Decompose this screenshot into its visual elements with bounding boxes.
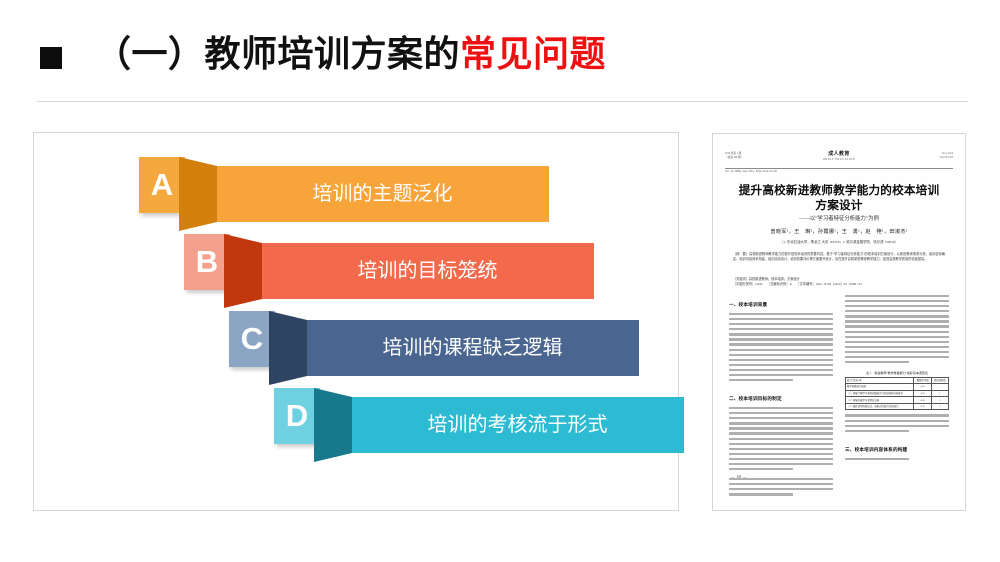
paper-table-cell: 教学准备能力维度 [846,384,914,391]
paper-text-line [729,333,833,335]
ribbon-bar-d: 培训的考核流于形式 [351,397,684,453]
paper-text-line [845,414,949,416]
ribbon-label-c: 培训的课程缺乏逻辑 [306,320,639,376]
paper-keywords: ［关键词］高校新进教师；校本培训；方案设计 ［中图分类号］G645 ［文献标识码… [733,277,945,288]
paper-table-row: （1）能够了解学习者的初始能力与知识结构分析能力4.301 [846,390,949,397]
paper-table-row: （3）确定适切的知识点、技能点的能力分析能力4.353 [846,403,949,410]
paper-abstract: ［摘 要］高校新进教师教学能力的提升是校本培训的重要内容，基于"学习者特征分析能… [733,252,945,261]
paper-text-line [729,323,833,325]
ribbon-item-c[interactable]: C培训的课程缺乏逻辑 [229,311,639,385]
paper-table-cell: 1 [931,390,948,397]
title-divider [36,101,968,102]
paper-title: 提升高校新进教师教学能力的校本培训方案设计 [733,183,945,213]
ribbon-label-d: 培训的考核流于形式 [351,397,684,453]
paper-section-heading-2: 二、校本培训目标的制定 [729,395,833,402]
paper-text-line [729,369,833,371]
ribbon-label-b: 培训的目标笼统 [261,243,594,299]
paper-block-gap [845,435,949,440]
ribbon-fold-d [314,388,352,462]
paper-text-line [845,305,949,307]
paper-subtitle: ——以"学习者特征分析能力"为例 [733,215,945,223]
paper-text-line [729,493,793,495]
paper-text-line [729,417,833,419]
paper-text-line [729,468,793,470]
paper-text-line [845,425,949,427]
paper-text-line [729,438,833,440]
paper-text-line [729,359,833,361]
paper-table-cell [931,384,948,391]
ribbon-item-a[interactable]: A培训的主题泛化 [139,157,549,231]
paper-text-line [729,463,833,465]
paper-text-line [845,458,909,460]
paper-text-line [845,356,949,358]
paper-column-left: 一、校本培训背景二、校本培训目标的制定 [729,295,833,498]
paper-page: 2014 年第 1 期 （总第 329 期） 成人教育 ADULT EDUCAT… [717,139,961,505]
page-title-accent: 常见问题 [460,33,606,74]
ribbon-fold-b [224,234,262,308]
paper-table-row: （2）能够开展学习者特征分析4.382 [846,397,949,404]
paper-text-line [729,349,833,351]
paper-table-cell: （2）能够开展学习者特征分析 [846,397,914,404]
paper-table-cell: （3）确定适切的知识点、技能点的能力分析能力 [846,403,914,410]
paper-table-cell: 4.41 [914,384,931,391]
paper-text-line [845,430,909,432]
paper-text-line [729,343,833,345]
paper-section-heading-1: 一、校本培训背景 [729,301,833,308]
square-bullet-icon [40,47,62,69]
paper-journal-en: ADULT EDUCATION [725,158,953,162]
paper-text-line [845,315,949,317]
paper-issue-right: No.1 2014 Total No.325 [939,152,953,161]
paper-issue-totalno: Total No.325 [939,156,953,159]
ribbon-bar-c: 培训的课程缺乏逻辑 [306,320,639,376]
paper-text-line [845,325,949,327]
paper-running-head: 2014 年第 1 期 （总第 329 期） 成人教育 ADULT EDUCAT… [725,152,953,168]
paper-text-line [729,318,833,320]
paper-text-line [729,328,833,330]
paper-table-cell: 4.35 [914,403,931,410]
paper-text-line [729,458,833,460]
paper-table-cell: 能 力 指 标 项 [846,377,914,384]
paper-text-line [729,412,833,414]
paper-text-line [845,420,949,422]
paper-table-caption: 表 1 新进教师"教学准备能力"指标基本调查表 [845,371,949,375]
paper-text-line [729,354,833,356]
paper-table-row: 教学准备能力维度4.41 [846,384,949,391]
slide-header: （一）教师培训方案的常见问题 [0,0,1000,102]
paper-text-line [845,351,949,353]
ribbon-item-b[interactable]: B培训的目标笼统 [184,234,594,308]
paper-text-line [845,320,949,322]
paper-text-line [729,483,833,485]
ribbon-list-card: A培训的主题泛化B培训的目标笼统C培训的课程缺乏逻辑D培训的考核流于形式 [33,132,679,511]
paper-text-line [845,361,909,363]
ribbon-label-a: 培训的主题泛化 [216,166,549,222]
paper-text-line [729,407,833,409]
paper-text-line [845,346,949,348]
paper-table-row: 能 力 指 标 项重要性均值需培训程度 [846,377,949,384]
paper-table-cell: 需培训程度 [931,377,948,384]
page-title: （一）教师培训方案的常见问题 [95,28,606,80]
paper-issue-no: No.1 2014 [942,152,953,155]
paper-text-line [845,341,949,343]
ribbon-fold-c [269,311,307,385]
paper-journal-name: 成人教育 ADULT EDUCATION [725,152,953,162]
paper-text-line [729,422,833,424]
paper-header-rule [725,168,953,169]
ribbon-bar-a: 培训的主题泛化 [216,166,549,222]
paper-text-line [845,310,949,312]
paper-text-line [729,443,833,445]
paper-text-line [845,300,949,302]
paper-text-line [729,432,833,434]
paper-classification-line: ［中图分类号］G645 ［文献标识码］A ［文章编号］1001 - 8794（2… [733,282,945,287]
paper-thumbnail-card[interactable]: 2014 年第 1 期 （总第 329 期） 成人教育 ADULT EDUCAT… [712,133,966,511]
paper-text-line [729,448,833,450]
paper-text-line [729,427,833,429]
paper-table-cell: 4.30 [914,390,931,397]
paper-authors: 曾晓军¹，王 琳²，孙霞娜¹，王 勇¹，赵 艳¹，田淑杰¹ [733,228,945,236]
ribbon-fold-a [179,157,217,231]
paper-affiliation: （1. 东北石油大学，黑龙江 大庆 163318；2. 哈尔滨金融学院，哈尔滨 … [733,240,945,245]
paper-text-line [729,338,833,340]
paper-page-number: — 68 — [731,475,747,479]
paper-text-line [729,453,833,455]
paper-column-right: 表 1 新进教师"教学准备能力"指标基本调查表能 力 指 标 项重要性均值需培训… [845,295,949,463]
paper-text-line [729,488,833,490]
paper-table-cell: 4.38 [914,397,931,404]
paper-text-line [729,379,793,381]
paper-text-line [729,374,833,376]
paper-text-line [729,364,833,366]
paper-doi: doi : 10. 3969/j. issn. 1001 - 8794. 201… [725,170,777,173]
paper-data-table: 能 力 指 标 项重要性均值需培训程度教学准备能力维度4.41（1）能够了解学习… [845,377,949,411]
page-title-prefix: （一）教师培训方案的 [95,33,460,74]
paper-text-line [845,336,949,338]
paper-table-cell: 2 [931,397,948,404]
ribbon-stack: A培训的主题泛化B培训的目标笼统C培训的课程缺乏逻辑D培训的考核流于形式 [34,133,680,512]
paper-table-cell: （1）能够了解学习者的初始能力与知识结构分析能力 [846,390,914,397]
ribbon-bar-b: 培训的目标笼统 [261,243,594,299]
paper-text-line [845,295,949,297]
paper-table-cell: 重要性均值 [914,377,931,384]
paper-text-line [729,313,833,315]
paper-section-heading-3: 三、校本培训内容体系的构建 [845,446,949,453]
paper-block-gap [729,384,833,389]
paper-text-line [845,331,949,333]
ribbon-item-d[interactable]: D培训的考核流于形式 [274,388,684,462]
paper-table-cell: 3 [931,403,948,410]
